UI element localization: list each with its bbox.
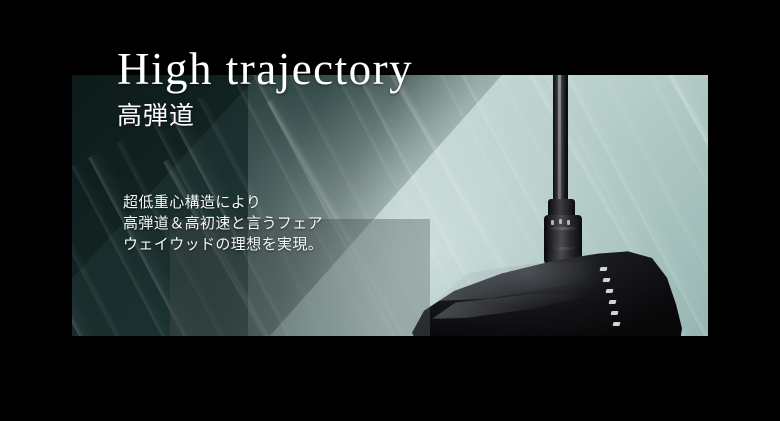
scoring-line bbox=[606, 289, 614, 293]
club-shaft bbox=[553, 75, 568, 273]
description-line-1: 超低重心構造により bbox=[123, 192, 353, 213]
club-hosel-adapter bbox=[544, 215, 582, 265]
club-head-gloss-lower bbox=[432, 293, 602, 319]
description-line-3: ウェイウッドの理想を実現。 bbox=[123, 234, 353, 255]
banner-stage: High trajectory 高弾道 超低重心構造により 高弾道＆高初速と言う… bbox=[0, 0, 780, 421]
description-text: 超低重心構造により 高弾道＆高初速と言うフェア ウェイウッドの理想を実現。 bbox=[123, 192, 353, 255]
club-head bbox=[412, 247, 708, 336]
scoring-line bbox=[609, 300, 617, 304]
page-title: High trajectory bbox=[117, 44, 413, 94]
page-subtitle: 高弾道 bbox=[117, 100, 195, 132]
club-ferrule bbox=[548, 199, 575, 219]
adapter-marking-dot bbox=[559, 219, 562, 224]
adapter-marking-dot bbox=[551, 220, 554, 225]
club-head-gloss bbox=[424, 261, 624, 301]
scoring-line bbox=[600, 267, 608, 271]
club-adapter-band-upper bbox=[545, 227, 581, 230]
scoring-line bbox=[603, 278, 611, 282]
scoring-line bbox=[611, 311, 619, 315]
club-shaft-highlight bbox=[558, 75, 561, 269]
club-adapter-band-lower bbox=[545, 247, 581, 250]
adapter-marking-dot bbox=[567, 220, 570, 225]
description-line-2: 高弾道＆高初速と言うフェア bbox=[123, 213, 353, 234]
scoring-line bbox=[613, 322, 621, 326]
club-head-sole-edge bbox=[414, 333, 702, 336]
